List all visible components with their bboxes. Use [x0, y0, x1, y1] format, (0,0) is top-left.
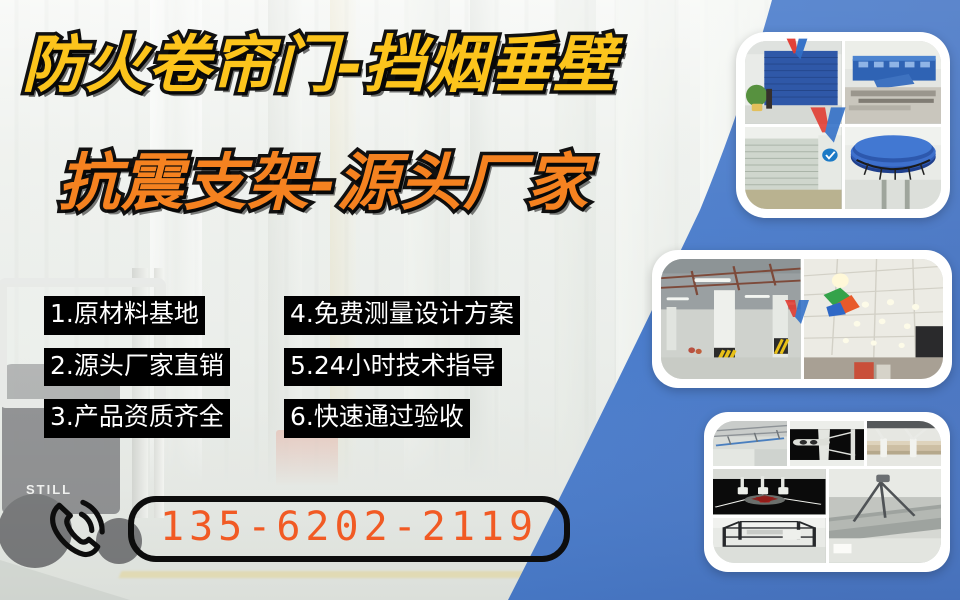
feature-column-right: 5.24小时技术指导 — [284, 348, 564, 387]
photo-blue-fire-shutter-door-interior — [745, 41, 842, 124]
collage-grid — [661, 259, 943, 379]
phone-ringing-icon — [40, 492, 114, 566]
feature-item-6: 6.快速通过验收 — [284, 399, 470, 438]
feature-row: 1.原材料基地 4.免费测量设计方案 — [44, 296, 564, 335]
feature-item-1: 1.原材料基地 — [44, 296, 205, 335]
headline-secondary: 抗震支架-源头厂家 — [58, 152, 589, 214]
photo-large-duct-seismic-support — [829, 469, 942, 563]
feature-item-4: 4.免费测量设计方案 — [284, 296, 520, 335]
promo-poster: STILL 0243 防火卷帘门-挡烟垂壁 抗震支 — [0, 0, 960, 600]
feature-item-2: 2.源头厂家直销 — [44, 348, 230, 387]
photo-pipe-clamp-hangers — [867, 421, 941, 466]
collage-grid — [745, 41, 941, 209]
photo-ceiling-pipe-brace-run — [713, 421, 787, 466]
photo-underground-parking-garage-columns — [661, 259, 801, 379]
feature-column-left: 2.源头厂家直销 — [44, 348, 284, 387]
photo-blue-shutter-roll-drum-mechanism — [845, 127, 942, 210]
phone-number-pill[interactable]: 135-6202-2119 — [128, 496, 570, 562]
fire-shutter-door-collage — [736, 32, 950, 218]
headline-primary: 防火卷帘门-挡烟垂壁 — [22, 34, 616, 96]
contact-phone-block[interactable]: 135-6202-2119 — [40, 492, 570, 566]
seismic-bracing-collage — [704, 412, 950, 572]
photo-cable-tray-brace-detail — [713, 469, 826, 514]
feature-item-5: 5.24小时技术指导 — [284, 348, 502, 387]
feature-item-3: 3.产品资质齐全 — [44, 399, 230, 438]
feature-list: 1.原材料基地 4.免费测量设计方案 2.源头厂家直销 5.24小时技术指导 3… — [44, 296, 564, 451]
photo-duct-bracket-assembly — [790, 421, 864, 466]
photo-ceiling-grid-with-downlights — [804, 259, 944, 379]
feature-column-left: 3.产品资质齐全 — [44, 399, 284, 438]
feature-row: 2.源头厂家直销 5.24小时技术指导 — [44, 348, 564, 387]
installation-site-collage — [652, 250, 952, 388]
feature-row: 3.产品资质齐全 6.快速通过验收 — [44, 399, 564, 438]
phone-number-text: 135-6202-2119 — [160, 505, 538, 550]
photo-steel-frame-trapeze-support — [713, 518, 826, 563]
feature-column-right: 6.快速通过验收 — [284, 399, 564, 438]
collage-grid — [713, 421, 941, 563]
photo-steel-rolling-shutter-corridor — [745, 127, 842, 210]
corner-accent — [0, 560, 130, 600]
photo-shutter-slat-roll-forming-machine — [845, 41, 942, 124]
feature-column-left: 1.原材料基地 — [44, 296, 284, 335]
feature-column-right: 4.免费测量设计方案 — [284, 296, 564, 335]
